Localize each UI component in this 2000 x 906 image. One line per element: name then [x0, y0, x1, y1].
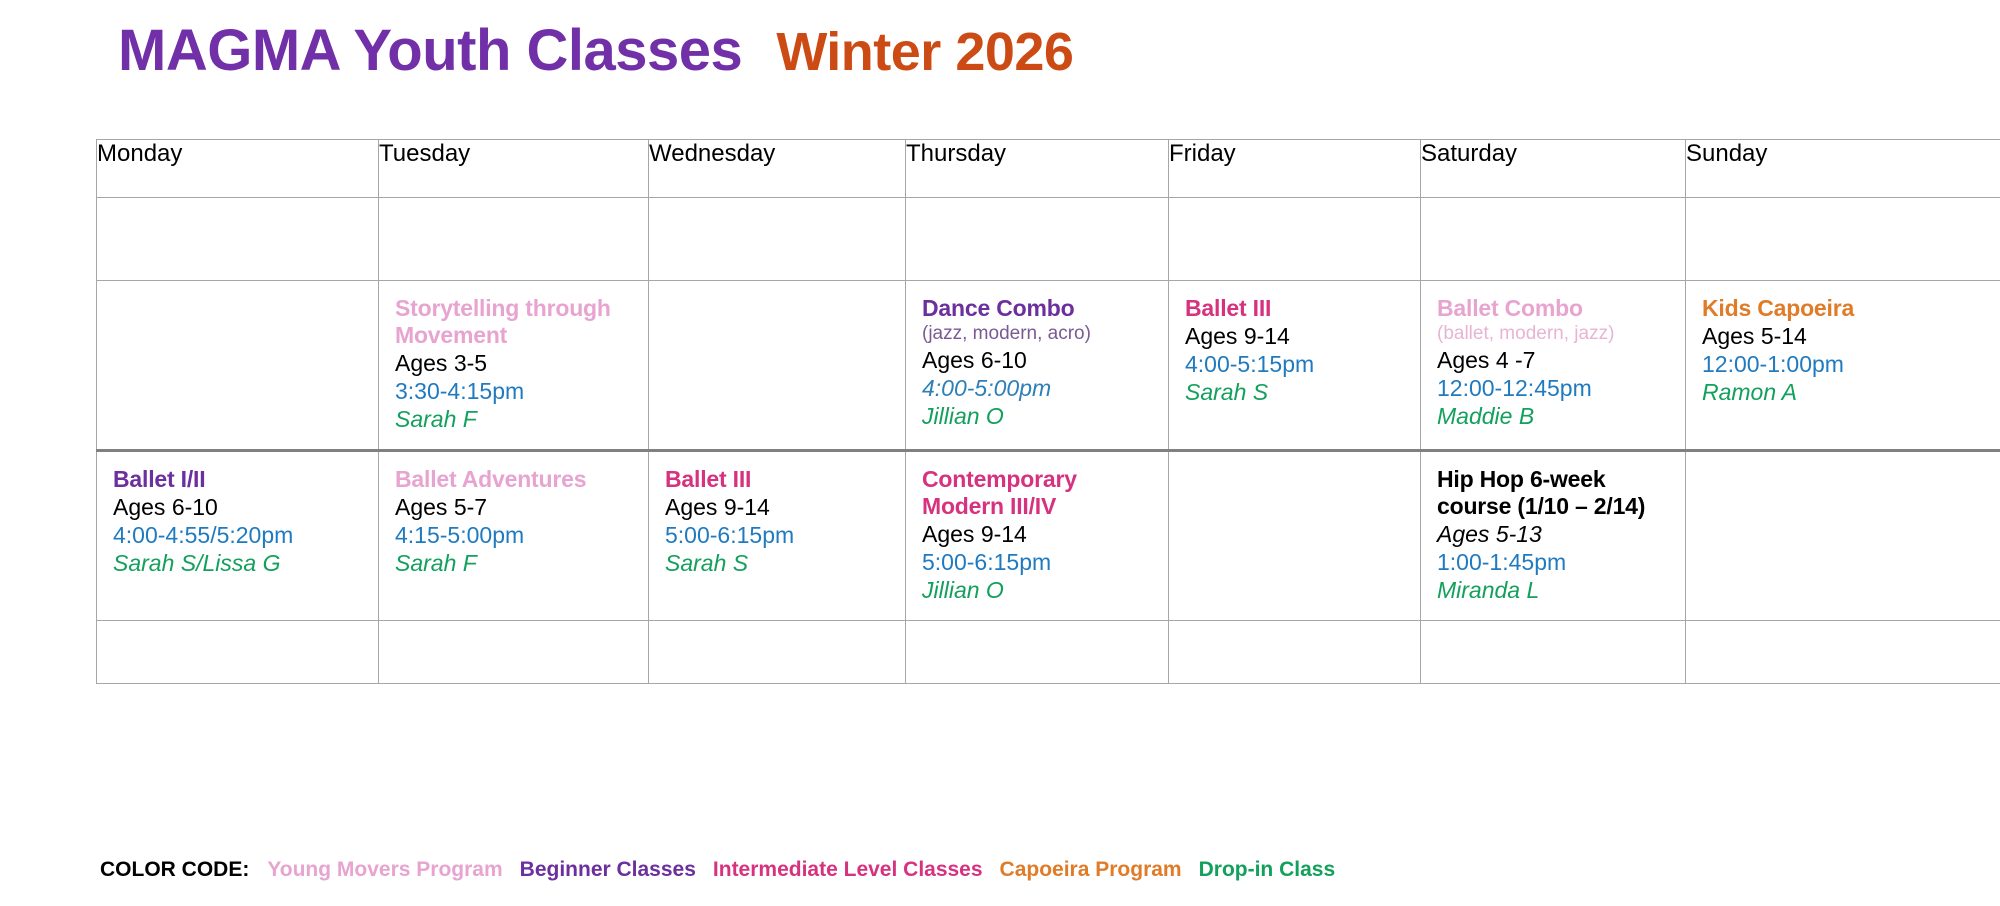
calendar-body: Storytelling through MovementAges 3-53:3… — [97, 198, 2000, 684]
day-header-row: MondayTuesdayWednesdayThursdayFridaySatu… — [97, 140, 2000, 198]
legend-item-0: Young Movers Program — [267, 858, 502, 882]
class-cell-thursday[interactable]: Contemporary Modern III/IVAges 9-145:00-… — [906, 451, 1169, 621]
calendar-row: Ballet I/IIAges 6-104:00-4:55/5:20pmSara… — [97, 451, 2000, 621]
calendar-row — [97, 198, 2000, 281]
class-instructor: Maddie B — [1437, 403, 1675, 430]
class-instructor: Sarah S — [665, 550, 895, 577]
title-main: MAGMA Youth Classes — [118, 22, 742, 80]
day-header-sunday: Sunday — [1686, 140, 2000, 198]
calendar-row — [97, 621, 2000, 684]
class-cell-saturday[interactable]: Hip Hop 6-week course (1/10 – 2/14)Ages … — [1421, 451, 1686, 621]
cell-monday — [97, 198, 379, 281]
class-title: Hip Hop 6-week course (1/10 – 2/14) — [1437, 466, 1675, 520]
day-header-wednesday: Wednesday — [649, 140, 906, 198]
class-entry: Storytelling through MovementAges 3-53:3… — [395, 295, 638, 433]
class-ages: Ages 3-5 — [395, 350, 638, 377]
class-title: Ballet Adventures — [395, 466, 638, 493]
class-ages: Ages 9-14 — [665, 494, 895, 521]
class-cell-friday[interactable]: Ballet IIIAges 9-144:00-5:15pmSarah S — [1169, 281, 1421, 451]
class-subtitle: (ballet, modern, jazz) — [1437, 323, 1675, 345]
cell-sunday — [1686, 198, 2000, 281]
class-title: Kids Capoeira — [1702, 295, 1994, 322]
cell-wednesday — [649, 281, 906, 451]
class-entry: Ballet Combo(ballet, modern, jazz)Ages 4… — [1437, 295, 1675, 430]
class-instructor: Miranda L — [1437, 577, 1675, 604]
class-entry: Ballet I/IIAges 6-104:00-4:55/5:20pmSara… — [113, 466, 368, 577]
class-entry: Ballet AdventuresAges 5-74:15-5:00pmSara… — [395, 466, 638, 577]
class-time: 5:00-6:15pm — [665, 522, 895, 549]
class-instructor: Sarah S/Lissa G — [113, 550, 368, 577]
class-title: Contemporary Modern III/IV — [922, 466, 1158, 520]
cell-tuesday — [379, 198, 649, 281]
class-instructor: Sarah S — [1185, 379, 1410, 406]
class-title: Ballet III — [1185, 295, 1410, 322]
cell-monday — [97, 281, 379, 451]
class-cell-thursday[interactable]: Dance Combo(jazz, modern, acro)Ages 6-10… — [906, 281, 1169, 451]
class-instructor: Jillian O — [922, 577, 1158, 604]
class-title: Ballet III — [665, 466, 895, 493]
class-entry: Hip Hop 6-week course (1/10 – 2/14)Ages … — [1437, 466, 1675, 604]
class-ages: Ages 5-7 — [395, 494, 638, 521]
class-time: 12:00-12:45pm — [1437, 375, 1675, 402]
cell-monday — [97, 621, 379, 684]
class-entry: Kids CapoeiraAges 5-1412:00-1:00pmRamon … — [1702, 295, 1994, 406]
class-time: 4:15-5:00pm — [395, 522, 638, 549]
cell-saturday — [1421, 198, 1686, 281]
day-header-monday: Monday — [97, 140, 379, 198]
cell-thursday — [906, 621, 1169, 684]
legend-item-4: Drop-in Class — [1199, 858, 1336, 882]
calendar-row: Storytelling through MovementAges 3-53:3… — [97, 281, 2000, 451]
day-header-thursday: Thursday — [906, 140, 1169, 198]
class-time: 1:00-1:45pm — [1437, 549, 1675, 576]
class-ages: Ages 5-13 — [1437, 521, 1675, 548]
class-cell-wednesday[interactable]: Ballet IIIAges 9-145:00-6:15pmSarah S — [649, 451, 906, 621]
cell-friday — [1169, 198, 1421, 281]
cell-friday — [1169, 451, 1421, 621]
day-header-tuesday: Tuesday — [379, 140, 649, 198]
title-season: Winter 2026 — [776, 25, 1073, 79]
legend-label: COLOR CODE: — [100, 858, 249, 882]
cell-wednesday — [649, 621, 906, 684]
schedule-page: MAGMA Youth Classes Winter 2026 MondayTu… — [0, 0, 2000, 906]
calendar-container: MondayTuesdayWednesdayThursdayFridaySatu… — [96, 139, 2000, 684]
class-time: 3:30-4:15pm — [395, 378, 638, 405]
class-title: Dance Combo — [922, 295, 1158, 322]
class-ages: Ages 9-14 — [1185, 323, 1410, 350]
class-cell-tuesday[interactable]: Ballet AdventuresAges 5-74:15-5:00pmSara… — [379, 451, 649, 621]
class-title: Ballet I/II — [113, 466, 368, 493]
cell-sunday — [1686, 621, 2000, 684]
cell-saturday — [1421, 621, 1686, 684]
class-cell-saturday[interactable]: Ballet Combo(ballet, modern, jazz)Ages 4… — [1421, 281, 1686, 451]
day-header-friday: Friday — [1169, 140, 1421, 198]
class-instructor: Jillian O — [922, 403, 1158, 430]
legend-item-3: Capoeira Program — [1000, 858, 1182, 882]
class-instructor: Sarah F — [395, 406, 638, 433]
class-cell-tuesday[interactable]: Storytelling through MovementAges 3-53:3… — [379, 281, 649, 451]
cell-wednesday — [649, 198, 906, 281]
class-title: Ballet Combo — [1437, 295, 1675, 322]
legend-item-1: Beginner Classes — [520, 858, 696, 882]
class-subtitle: (jazz, modern, acro) — [922, 323, 1158, 345]
class-entry: Contemporary Modern III/IVAges 9-145:00-… — [922, 466, 1158, 604]
color-code-legend: COLOR CODE: Young Movers ProgramBeginner… — [100, 858, 1335, 882]
page-title: MAGMA Youth Classes Winter 2026 — [118, 22, 1073, 80]
class-time: 4:00-5:15pm — [1185, 351, 1410, 378]
class-time: 4:00-5:00pm — [922, 375, 1158, 402]
class-ages: Ages 6-10 — [113, 494, 368, 521]
class-ages: Ages 5-14 — [1702, 323, 1994, 350]
class-time: 12:00-1:00pm — [1702, 351, 1994, 378]
class-entry: Dance Combo(jazz, modern, acro)Ages 6-10… — [922, 295, 1158, 430]
class-ages: Ages 4 -7 — [1437, 347, 1675, 374]
class-instructor: Sarah F — [395, 550, 638, 577]
cell-friday — [1169, 621, 1421, 684]
class-entry: Ballet IIIAges 9-145:00-6:15pmSarah S — [665, 466, 895, 577]
cell-sunday — [1686, 451, 2000, 621]
class-ages: Ages 6-10 — [922, 347, 1158, 374]
cell-thursday — [906, 198, 1169, 281]
class-entry: Ballet IIIAges 9-144:00-5:15pmSarah S — [1185, 295, 1410, 406]
legend-item-2: Intermediate Level Classes — [713, 858, 983, 882]
cell-tuesday — [379, 621, 649, 684]
class-ages: Ages 9-14 — [922, 521, 1158, 548]
class-cell-monday[interactable]: Ballet I/IIAges 6-104:00-4:55/5:20pmSara… — [97, 451, 379, 621]
class-cell-sunday[interactable]: Kids CapoeiraAges 5-1412:00-1:00pmRamon … — [1686, 281, 2000, 451]
class-title: Storytelling through Movement — [395, 295, 638, 349]
class-instructor: Ramon A — [1702, 379, 1994, 406]
class-time: 5:00-6:15pm — [922, 549, 1158, 576]
day-header-saturday: Saturday — [1421, 140, 1686, 198]
class-time: 4:00-4:55/5:20pm — [113, 522, 368, 549]
weekly-schedule-table: MondayTuesdayWednesdayThursdayFridaySatu… — [96, 139, 2000, 684]
